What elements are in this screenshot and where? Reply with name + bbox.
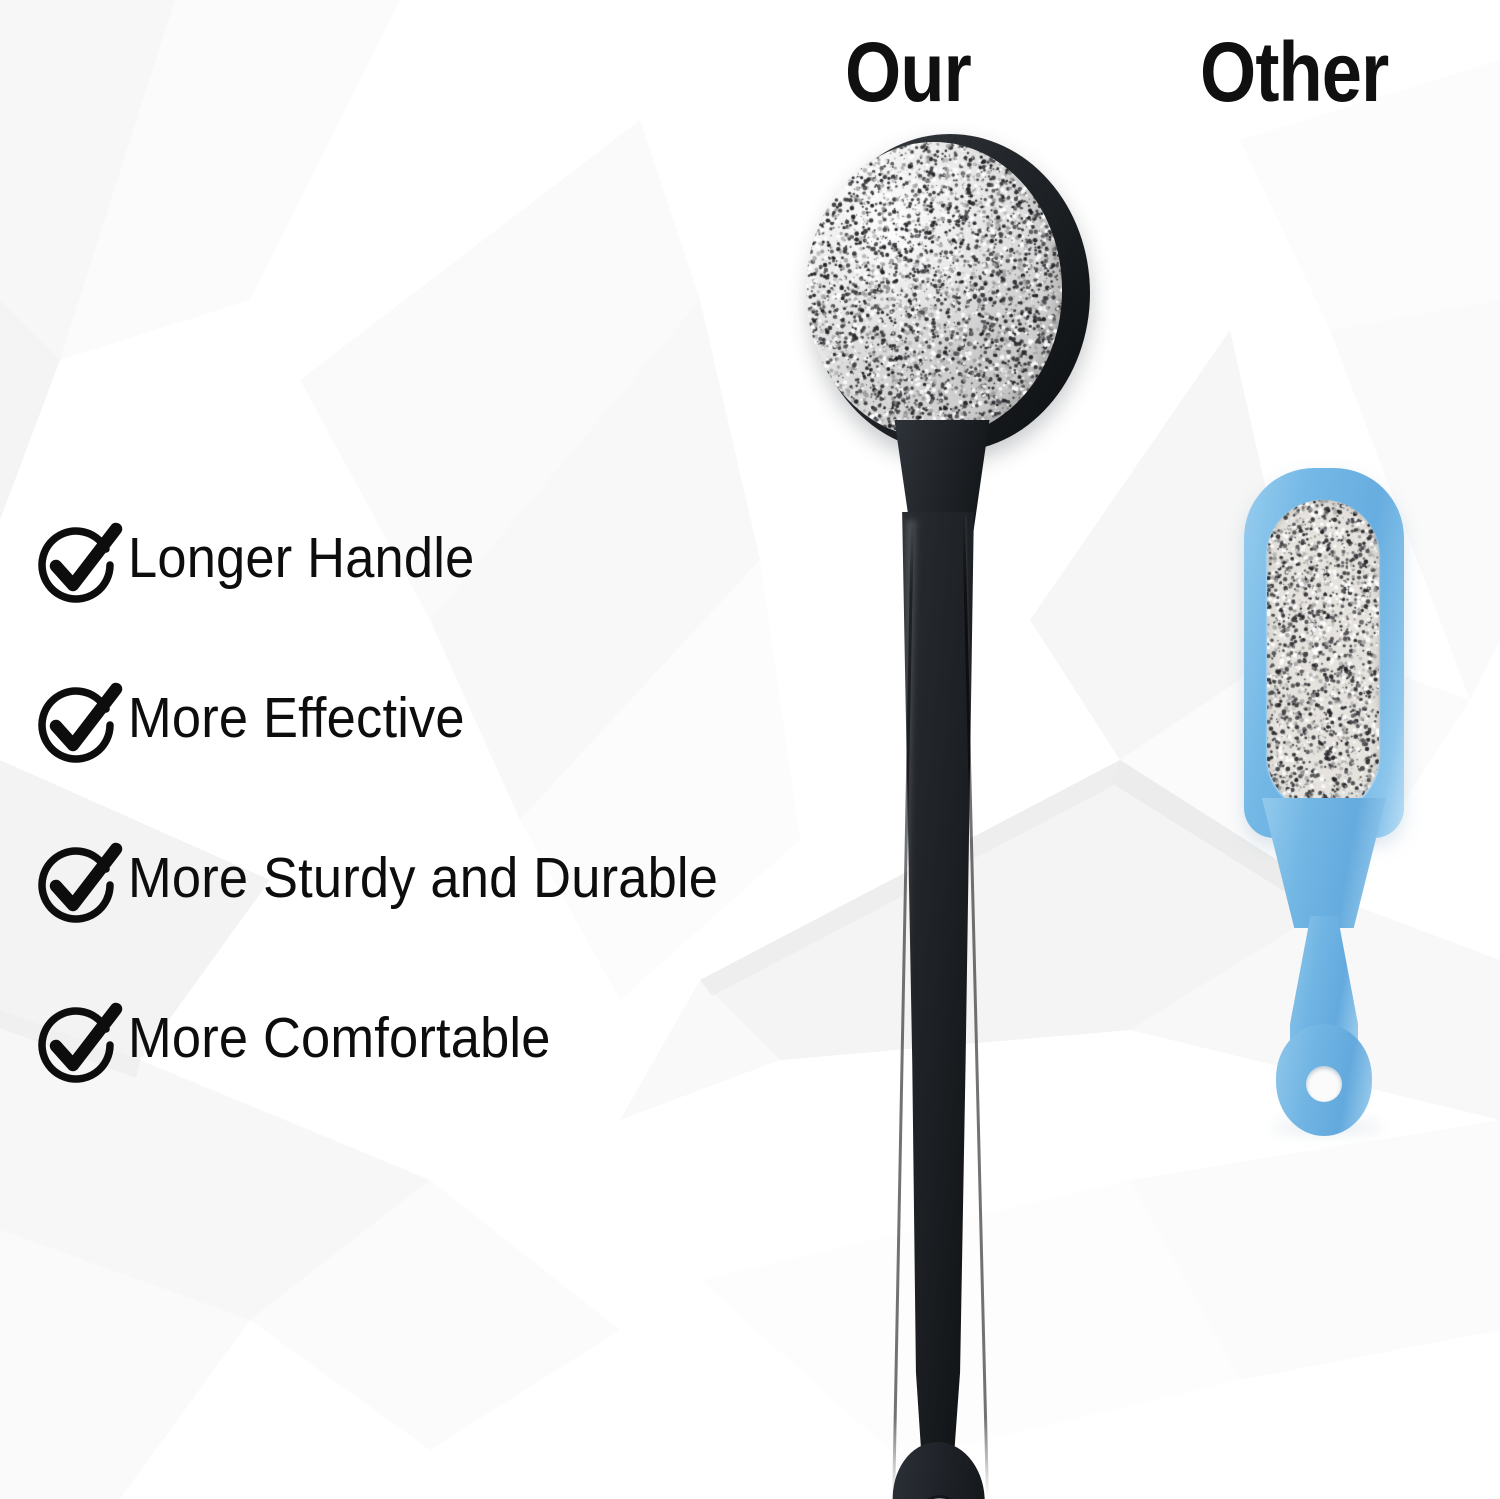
feature-label: More Sturdy and Durable	[128, 840, 718, 916]
pumice-texture	[1267, 500, 1379, 812]
hanging-hole	[1306, 1066, 1342, 1102]
heading-other: Other	[1200, 30, 1388, 114]
check-circle-icon	[34, 523, 118, 607]
feature-label: More Comfortable	[128, 1000, 551, 1076]
pumice-disc	[806, 142, 1062, 438]
feature-item: More Sturdy and Durable	[34, 840, 854, 1000]
feature-list: Longer Handle More Effective More Sturdy…	[34, 520, 854, 1160]
feature-label: Longer Handle	[128, 520, 474, 596]
handle-neck	[1262, 798, 1386, 928]
feature-item: Longer Handle	[34, 520, 854, 680]
product-comparison-image: Our Other Longer Handle More Effective	[0, 0, 1500, 1499]
feature-label: More Effective	[128, 680, 465, 756]
pumice-texture	[806, 142, 1062, 438]
product-image-other	[1232, 468, 1422, 1128]
check-circle-icon	[34, 1003, 118, 1087]
handle-end-cap	[890, 1440, 989, 1499]
product-image-ours	[780, 120, 1110, 1490]
pumice-pad	[1267, 500, 1379, 812]
heading-our: Our	[845, 30, 971, 114]
check-circle-icon	[34, 683, 118, 767]
check-circle-icon	[34, 843, 118, 927]
feature-item: More Effective	[34, 680, 854, 840]
feature-item: More Comfortable	[34, 1000, 854, 1160]
